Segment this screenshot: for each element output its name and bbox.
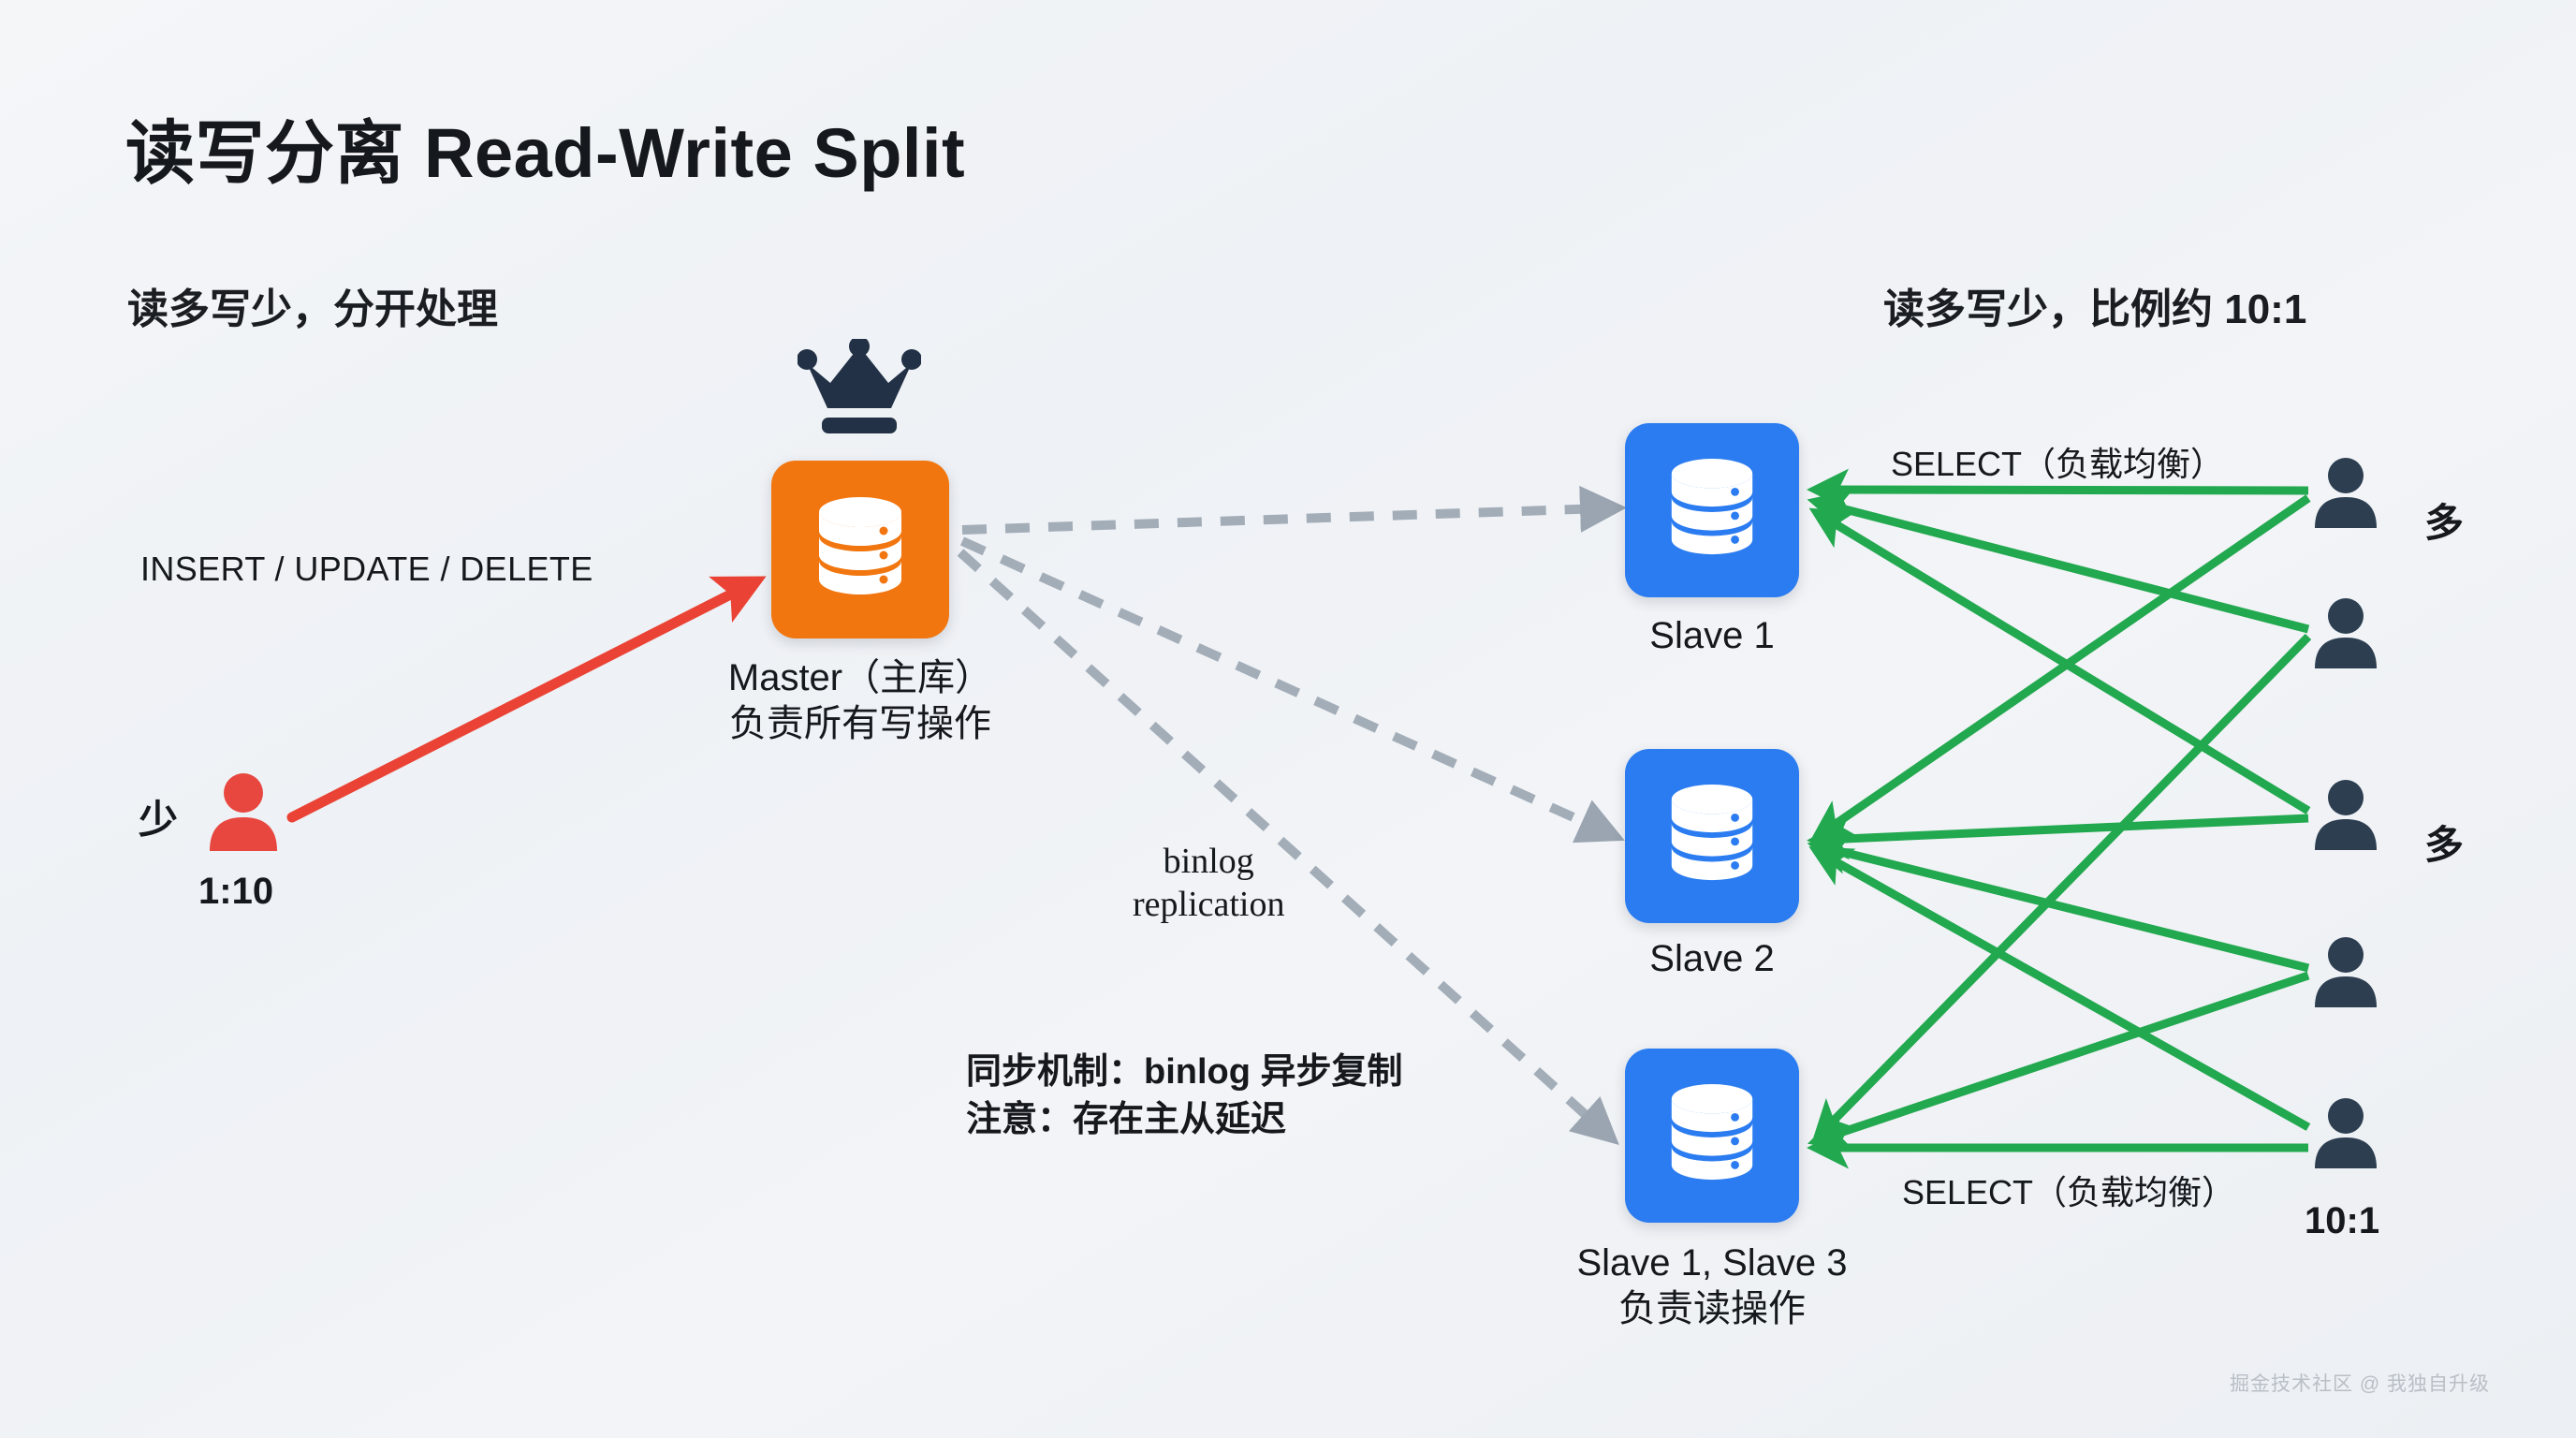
slave-database-node-2[interactable] xyxy=(1625,749,1799,923)
database-icon xyxy=(1661,781,1763,891)
replication-edge-label-line1: binlog xyxy=(1133,840,1284,883)
edge-read-reader3-to-slave1 xyxy=(1823,517,2308,811)
write-ratio-label: 1:10 xyxy=(198,871,273,913)
replication-edge-label: binlog replication xyxy=(1133,840,1284,927)
person-icon xyxy=(2312,597,2379,668)
person-icon xyxy=(2312,457,2379,528)
read-ratio-label: 10:1 xyxy=(2305,1200,2379,1242)
slave-caption-3: Slave 1, Slave 3 负责读操作 xyxy=(1576,1240,1847,1332)
read-volume-label-2: 多 xyxy=(2424,814,2464,871)
edge-read-reader1-to-slave2 xyxy=(1823,498,2308,832)
edge-read-reader5-to-slave2 xyxy=(1823,855,2308,1127)
page-title: 读写分离 Read-Write Split xyxy=(125,97,965,198)
slave-role-3: 负责读操作 xyxy=(1576,1286,1847,1332)
watermark: 掘金技术社区 @ 我独自升级 xyxy=(2230,1369,2490,1397)
write-volume-label: 少 xyxy=(139,788,178,845)
database-icon xyxy=(1661,455,1763,565)
slave-caption-2: Slave 2 xyxy=(1649,936,1774,982)
edge-read-reader2-to-slave3 xyxy=(1823,637,2308,1131)
replication-edge-label-line2: replication xyxy=(1133,883,1284,926)
master-database-node[interactable] xyxy=(771,461,949,638)
edge-write-client-to-master xyxy=(292,585,749,817)
diagram-canvas: 读写分离 Read-Write Split 读多写少，分开处理 读多写少，比例约… xyxy=(0,0,2576,1438)
select-label-bottom: SELECT（负载均衡） xyxy=(1902,1166,2235,1214)
slave-name-1: Slave 1 xyxy=(1649,613,1774,659)
crown-icon xyxy=(798,339,921,440)
read-volume-label-1: 多 xyxy=(2424,492,2464,549)
person-icon xyxy=(2312,1097,2379,1168)
edge-read-reader4-to-slave2 xyxy=(1823,847,2308,968)
subtitle-left: 读多写少，分开处理 xyxy=(127,275,498,335)
subtitle-right: 读多写少，比例约 10:1 xyxy=(1883,275,2306,335)
master-role: 负责所有写操作 xyxy=(728,701,992,747)
replication-note-line2: 注意：存在主从延迟 xyxy=(966,1096,1403,1144)
edge-read-reader3-to-slave2 xyxy=(1823,818,2308,840)
replication-note: 同步机制：binlog 异步复制 注意：存在主从延迟 xyxy=(966,1049,1403,1145)
database-icon xyxy=(809,493,912,606)
slave-database-node-3[interactable] xyxy=(1625,1049,1799,1223)
edge-read-reader4-to-slave3 xyxy=(1823,976,2308,1138)
slave-name-2: Slave 2 xyxy=(1649,936,1774,982)
write-operations-label: INSERT / UPDATE / DELETE xyxy=(140,550,593,589)
select-label-top: SELECT（负载均衡） xyxy=(1891,437,2224,486)
edge-read-reader2-to-slave1 xyxy=(1823,504,2308,629)
person-icon xyxy=(206,772,281,851)
person-icon xyxy=(2312,936,2379,1007)
database-icon xyxy=(1661,1080,1763,1191)
slave-name-3: Slave 1, Slave 3 xyxy=(1576,1240,1847,1286)
master-name: Master（主库） xyxy=(728,655,992,701)
edge-read-reader1-to-slave1 xyxy=(1823,490,2308,491)
person-icon xyxy=(2312,779,2379,850)
master-caption: Master（主库） 负责所有写操作 xyxy=(728,655,992,747)
slave-caption-1: Slave 1 xyxy=(1649,613,1774,659)
edge-replication-master-to-slave2 xyxy=(962,541,1604,831)
connector-layer xyxy=(0,0,2576,1438)
edge-replication-master-to-slave1 xyxy=(962,508,1604,530)
slave-database-node-1[interactable] xyxy=(1625,423,1799,597)
replication-note-line1: 同步机制：binlog 异步复制 xyxy=(966,1049,1403,1096)
